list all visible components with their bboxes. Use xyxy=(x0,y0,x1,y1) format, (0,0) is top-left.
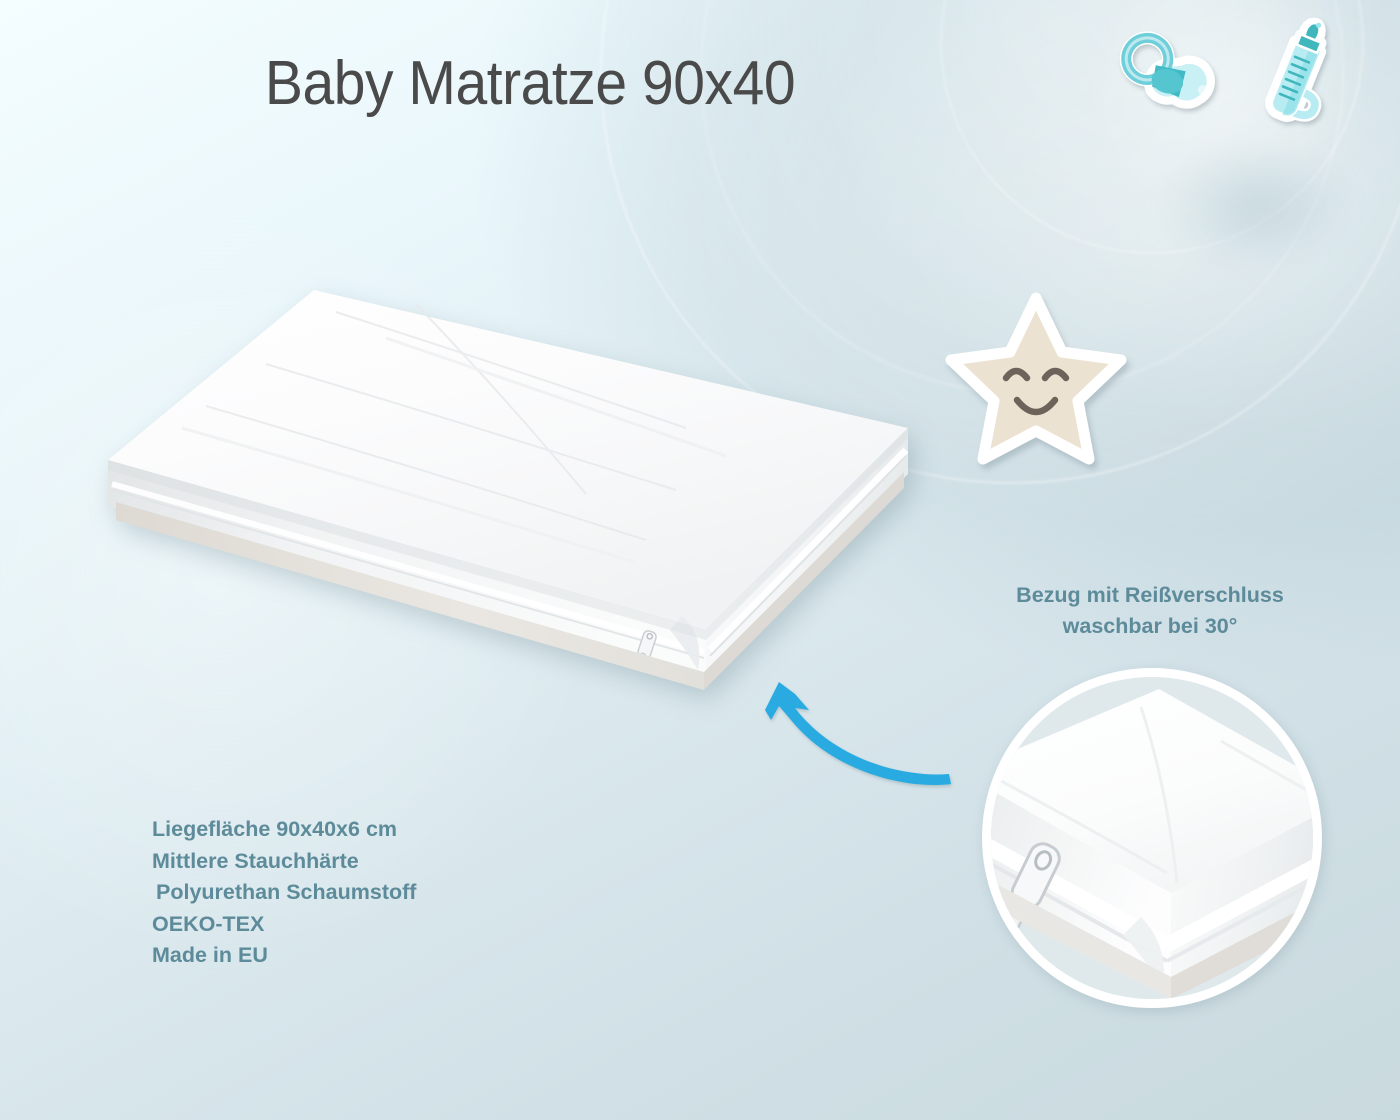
page-title: Baby Matratze 90x40 xyxy=(42,48,1017,119)
spec-item: Polyurethan Schaumstoff xyxy=(152,877,416,909)
zipper-caption: Bezug mit Reißverschluss waschbar bei 30… xyxy=(960,580,1340,641)
zipper-caption-line2: waschbar bei 30° xyxy=(960,611,1340,642)
baby-bottle-icon xyxy=(1240,14,1348,142)
product-infographic: Baby Matratze 90x40 xyxy=(0,0,1400,1120)
zipper-caption-line1: Bezug mit Reißverschluss xyxy=(960,580,1340,611)
specification-list: Liegefläche 90x40x6 cm Mittlere Stauchhä… xyxy=(152,814,416,972)
spec-item: Mittlere Stauchhärte xyxy=(152,846,416,878)
spec-item: Made in EU xyxy=(152,940,416,972)
spec-item: OEKO-TEX xyxy=(152,909,416,941)
baby-mattress-photo xyxy=(86,278,936,708)
zipper-corner-closeup-photo xyxy=(982,668,1322,1008)
smiling-star-icon xyxy=(938,282,1134,478)
curved-arrow-icon xyxy=(735,662,965,802)
pacifier-icon xyxy=(1112,18,1234,140)
spec-item: Liegefläche 90x40x6 cm xyxy=(152,814,416,846)
